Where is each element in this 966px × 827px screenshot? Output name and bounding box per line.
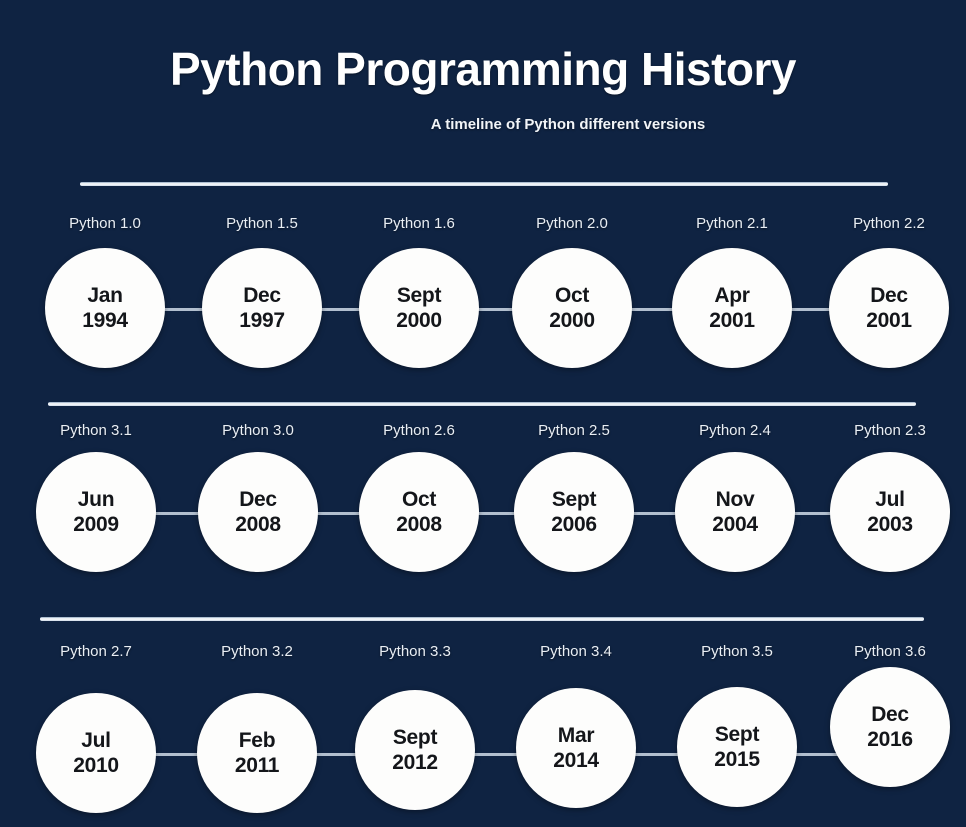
release-month: Dec: [243, 283, 281, 308]
version-label: Python 2.5: [538, 422, 610, 439]
release-date-circle[interactable]: Sept2015: [677, 687, 797, 807]
release-year: 2000: [549, 308, 595, 333]
release-month: Dec: [239, 487, 277, 512]
timeline-row-3: Python 2.7Jul2010Python 3.2Feb2011Python…: [0, 595, 966, 827]
release-month: Mar: [558, 723, 594, 748]
release-year: 2015: [714, 747, 760, 772]
release-year: 2011: [235, 753, 279, 778]
release-year: 2010: [73, 753, 119, 778]
release-date-circle[interactable]: Mar2014: [516, 688, 636, 808]
page-subtitle: A timeline of Python different versions: [0, 116, 966, 133]
release-date-circle[interactable]: Sept2012: [355, 690, 475, 810]
release-year: 2001: [866, 308, 912, 333]
page-title: Python Programming History: [0, 42, 966, 96]
release-month: Jul: [875, 487, 904, 512]
version-label: Python 3.2: [221, 643, 293, 660]
release-month: Sept: [552, 487, 596, 512]
release-month: Sept: [715, 722, 759, 747]
release-month: Feb: [239, 728, 275, 753]
row-divider-rule: [48, 402, 916, 406]
release-year: 2016: [867, 727, 913, 752]
release-year: 2006: [551, 512, 597, 537]
release-year: 2000: [396, 308, 442, 333]
release-month: Jul: [81, 728, 110, 753]
release-month: Jan: [87, 283, 122, 308]
release-year: 2009: [73, 512, 119, 537]
release-date-circle[interactable]: Feb2011: [197, 693, 317, 813]
release-date-circle[interactable]: Apr2001: [672, 248, 792, 368]
release-date-circle[interactable]: Sept2000: [359, 248, 479, 368]
timeline-row-1: Python 1.0Jan1994Python 1.5Dec1997Python…: [0, 160, 966, 380]
version-label: Python 3.5: [701, 643, 773, 660]
release-year: 2008: [235, 512, 281, 537]
release-month: Jun: [78, 487, 114, 512]
version-label: Python 2.4: [699, 422, 771, 439]
version-label: Python 3.0: [222, 422, 294, 439]
version-label: Python 3.3: [379, 643, 451, 660]
release-year: 2012: [392, 750, 438, 775]
row-divider-rule: [80, 182, 888, 186]
release-date-circle[interactable]: Jul2010: [36, 693, 156, 813]
release-year: 1994: [82, 308, 128, 333]
header: Python Programming History A timeline of…: [0, 0, 966, 160]
row-divider-rule: [40, 617, 924, 621]
release-date-circle[interactable]: Dec1997: [202, 248, 322, 368]
release-month: Dec: [871, 702, 909, 727]
release-date-circle[interactable]: Jun2009: [36, 452, 156, 572]
release-year: 1997: [239, 308, 285, 333]
version-label: Python 3.4: [540, 643, 612, 660]
release-date-circle[interactable]: Nov2004: [675, 452, 795, 572]
release-month: Sept: [397, 283, 441, 308]
version-label: Python 3.1: [60, 422, 132, 439]
version-label: Python 2.0: [536, 215, 608, 232]
release-date-circle[interactable]: Dec2016: [830, 667, 950, 787]
release-date-circle[interactable]: Jan1994: [45, 248, 165, 368]
version-label: Python 2.2: [853, 215, 925, 232]
version-label: Python 2.7: [60, 643, 132, 660]
release-month: Dec: [870, 283, 908, 308]
release-date-circle[interactable]: Jul2003: [830, 452, 950, 572]
release-month: Oct: [555, 283, 589, 308]
version-label: Python 1.5: [226, 215, 298, 232]
version-label: Python 2.3: [854, 422, 926, 439]
version-label: Python 2.1: [696, 215, 768, 232]
version-label: Python 3.6: [854, 643, 926, 660]
release-date-circle[interactable]: Dec2001: [829, 248, 949, 368]
release-date-circle[interactable]: Oct2008: [359, 452, 479, 572]
version-label: Python 1.6: [383, 215, 455, 232]
release-date-circle[interactable]: Sept2006: [514, 452, 634, 572]
release-date-circle[interactable]: Oct2000: [512, 248, 632, 368]
version-label: Python 2.6: [383, 422, 455, 439]
release-month: Nov: [716, 487, 755, 512]
version-label: Python 1.0: [69, 215, 141, 232]
release-month: Oct: [402, 487, 436, 512]
release-year: 2004: [712, 512, 758, 537]
release-year: 2008: [396, 512, 442, 537]
timeline-row-2: Python 3.1Jun2009Python 3.0Dec2008Python…: [0, 380, 966, 595]
release-year: 2003: [867, 512, 913, 537]
release-year: 2001: [709, 308, 755, 333]
release-year: 2014: [553, 748, 599, 773]
release-month: Sept: [393, 725, 437, 750]
release-month: Apr: [714, 283, 749, 308]
release-date-circle[interactable]: Dec2008: [198, 452, 318, 572]
